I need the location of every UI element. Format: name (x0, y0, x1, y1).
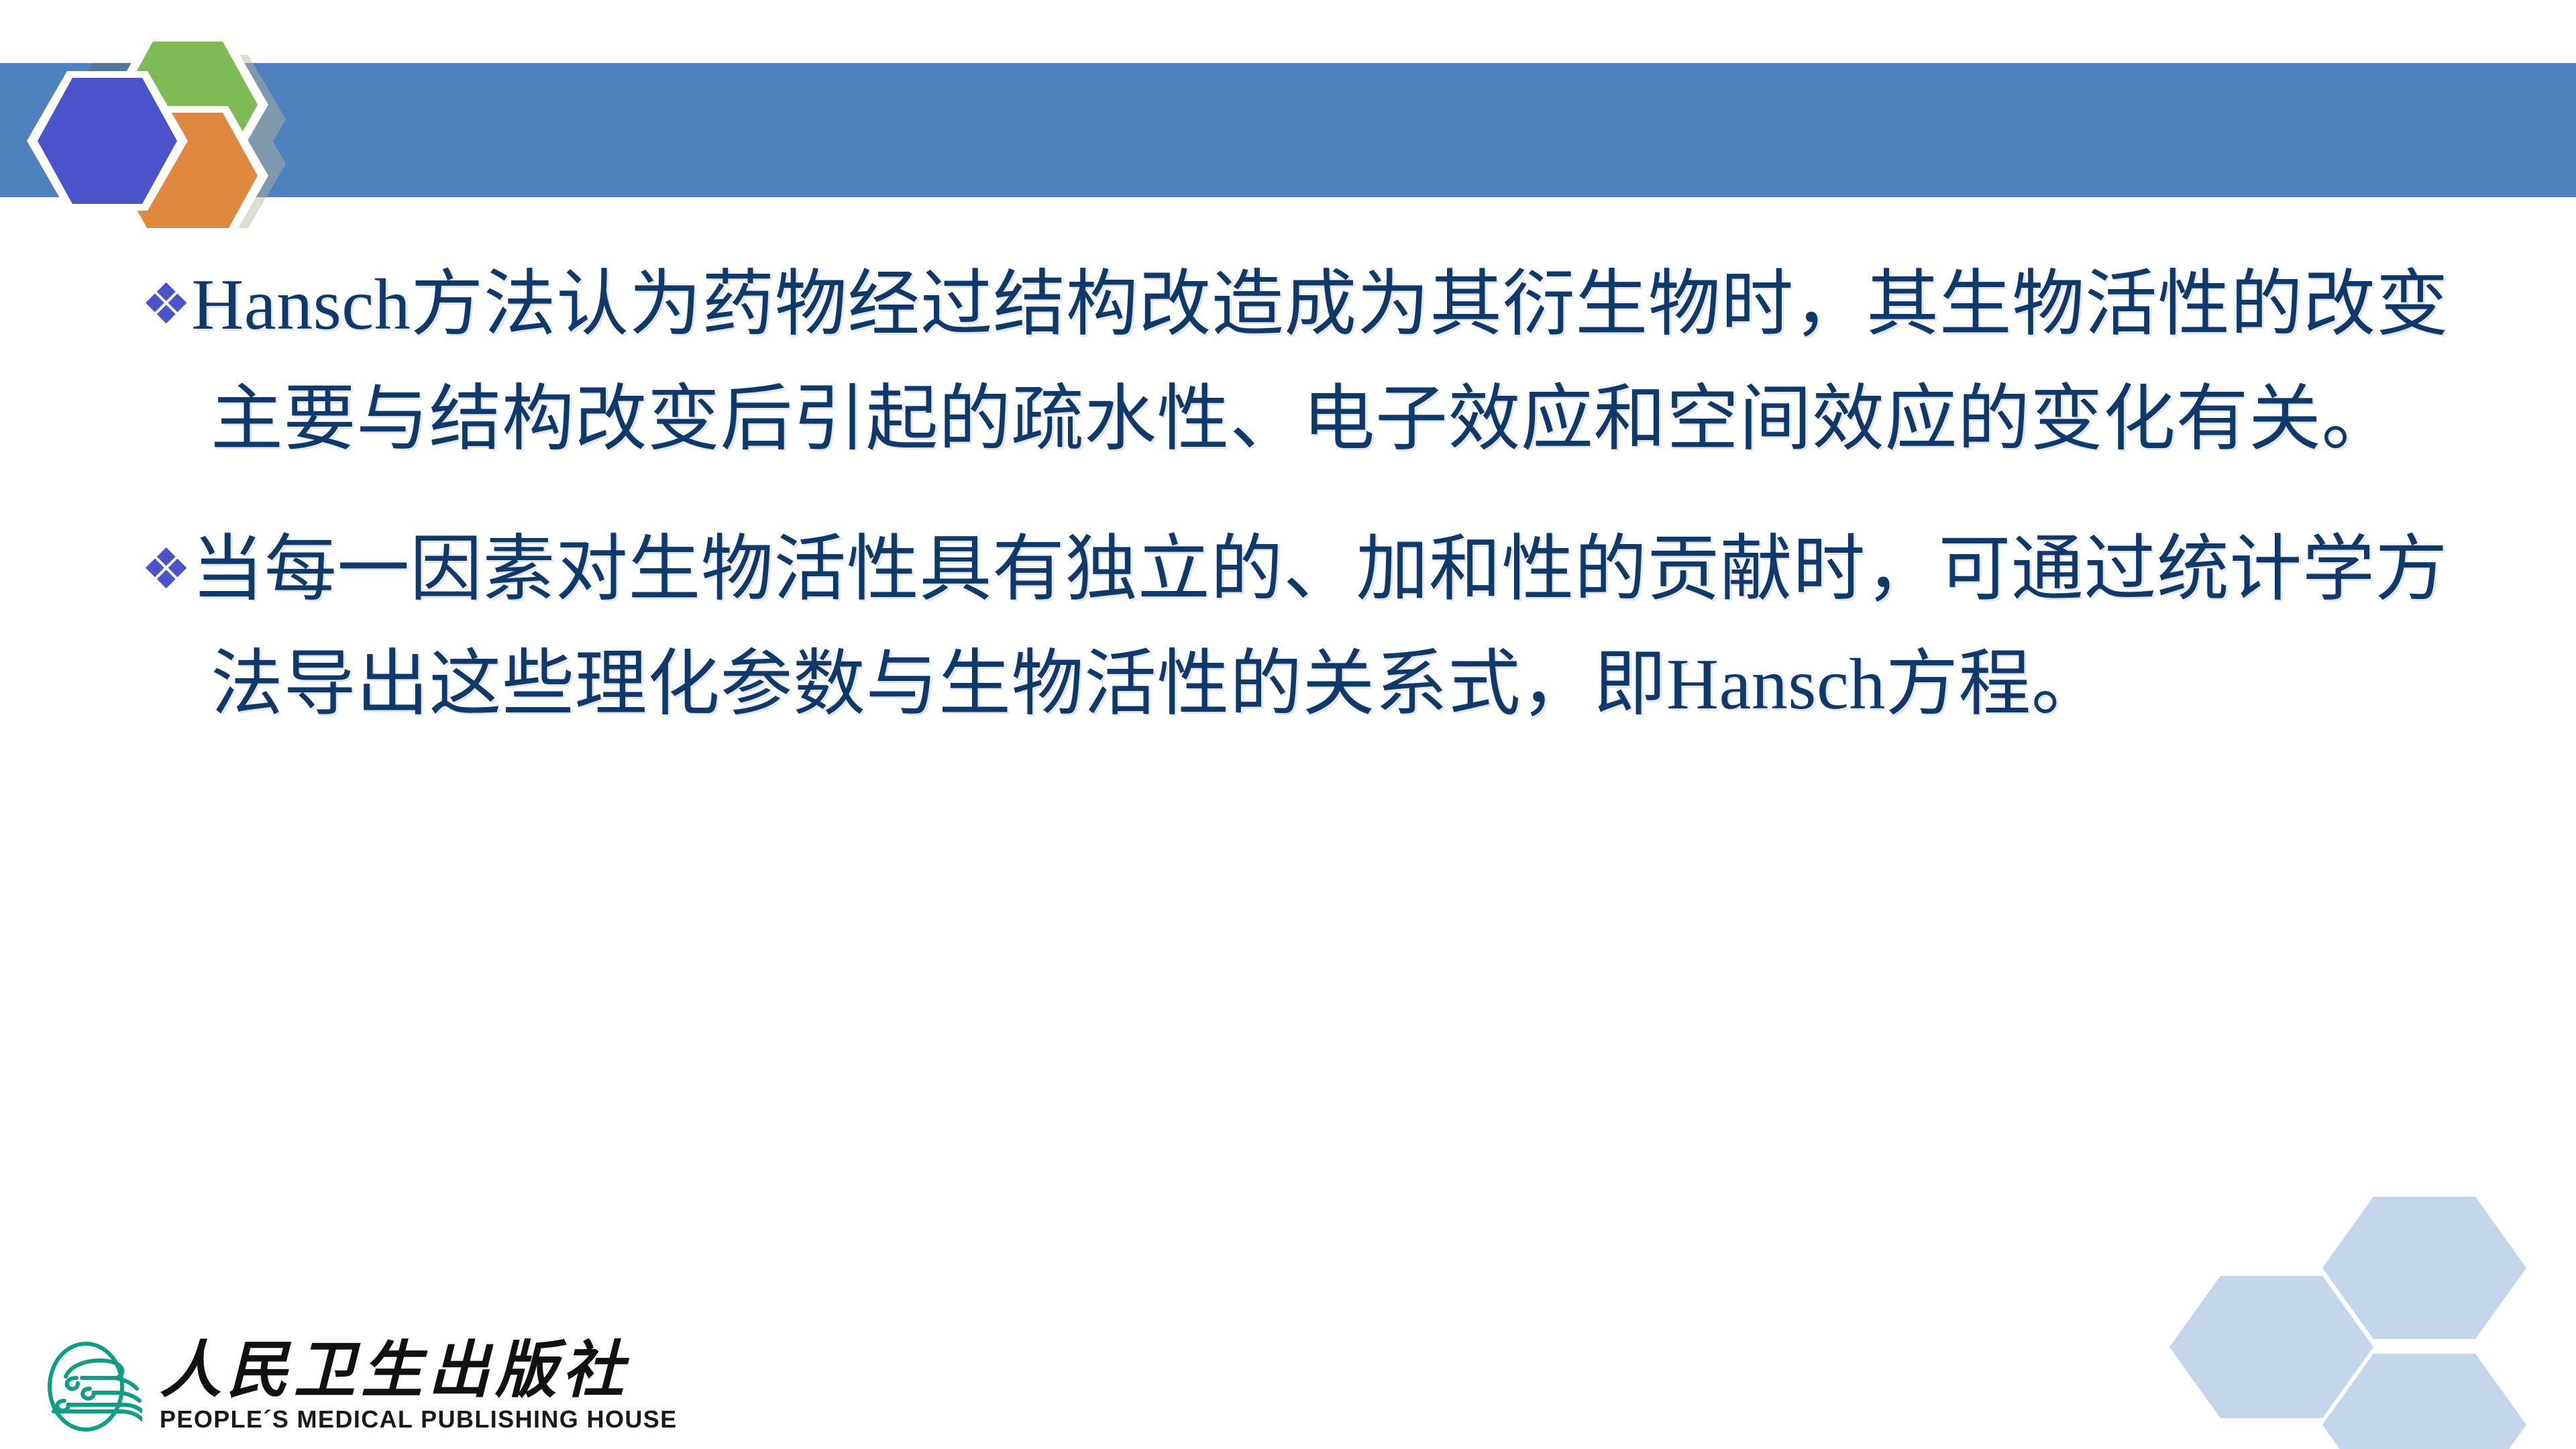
corner-hexagon-upper (2322, 1197, 2526, 1339)
publisher-name-english: PEOPLE´S MEDICAL PUBLISHING HOUSE (160, 1405, 678, 1434)
slide-body: ❖Hansch方法认为药物经过结构改造成为其衍生物时，其生物活性的改变主要与结构… (141, 248, 2455, 749)
bullet-paragraph-2-text: 当每一因素对生物活性具有独立的、加和性的贡献时，可通过统计学方法导出这些理化参数… (191, 530, 2448, 724)
header-band (0, 63, 2576, 197)
diamond-bullet-icon: ❖ (141, 271, 191, 337)
bullet-paragraph-2: ❖当每一因素对生物活性具有独立的、加和性的贡献时，可通过统计学方法导出这些理化参… (141, 513, 2455, 742)
publisher-logo: 人民卫生出版社 PEOPLE´S MEDICAL PUBLISHING HOUS… (42, 1336, 753, 1437)
header-hexagon-cluster (27, 0, 309, 228)
publisher-wordmark: 人民卫生出版社 PEOPLE´S MEDICAL PUBLISHING HOUS… (160, 1340, 678, 1434)
corner-hexagon-cluster (2147, 1134, 2576, 1449)
publisher-name-chinese: 人民卫生出版社 (160, 1340, 678, 1403)
bullet-paragraph-1: ❖Hansch方法认为药物经过结构改造成为其衍生物时，其生物活性的改变主要与结构… (141, 248, 2455, 477)
publisher-emblem-icon (42, 1336, 142, 1437)
bullet-paragraph-1-text: Hansch方法认为药物经过结构改造成为其衍生物时，其生物活性的改变主要与结构改… (191, 265, 2449, 460)
diamond-bullet-icon: ❖ (141, 536, 191, 602)
